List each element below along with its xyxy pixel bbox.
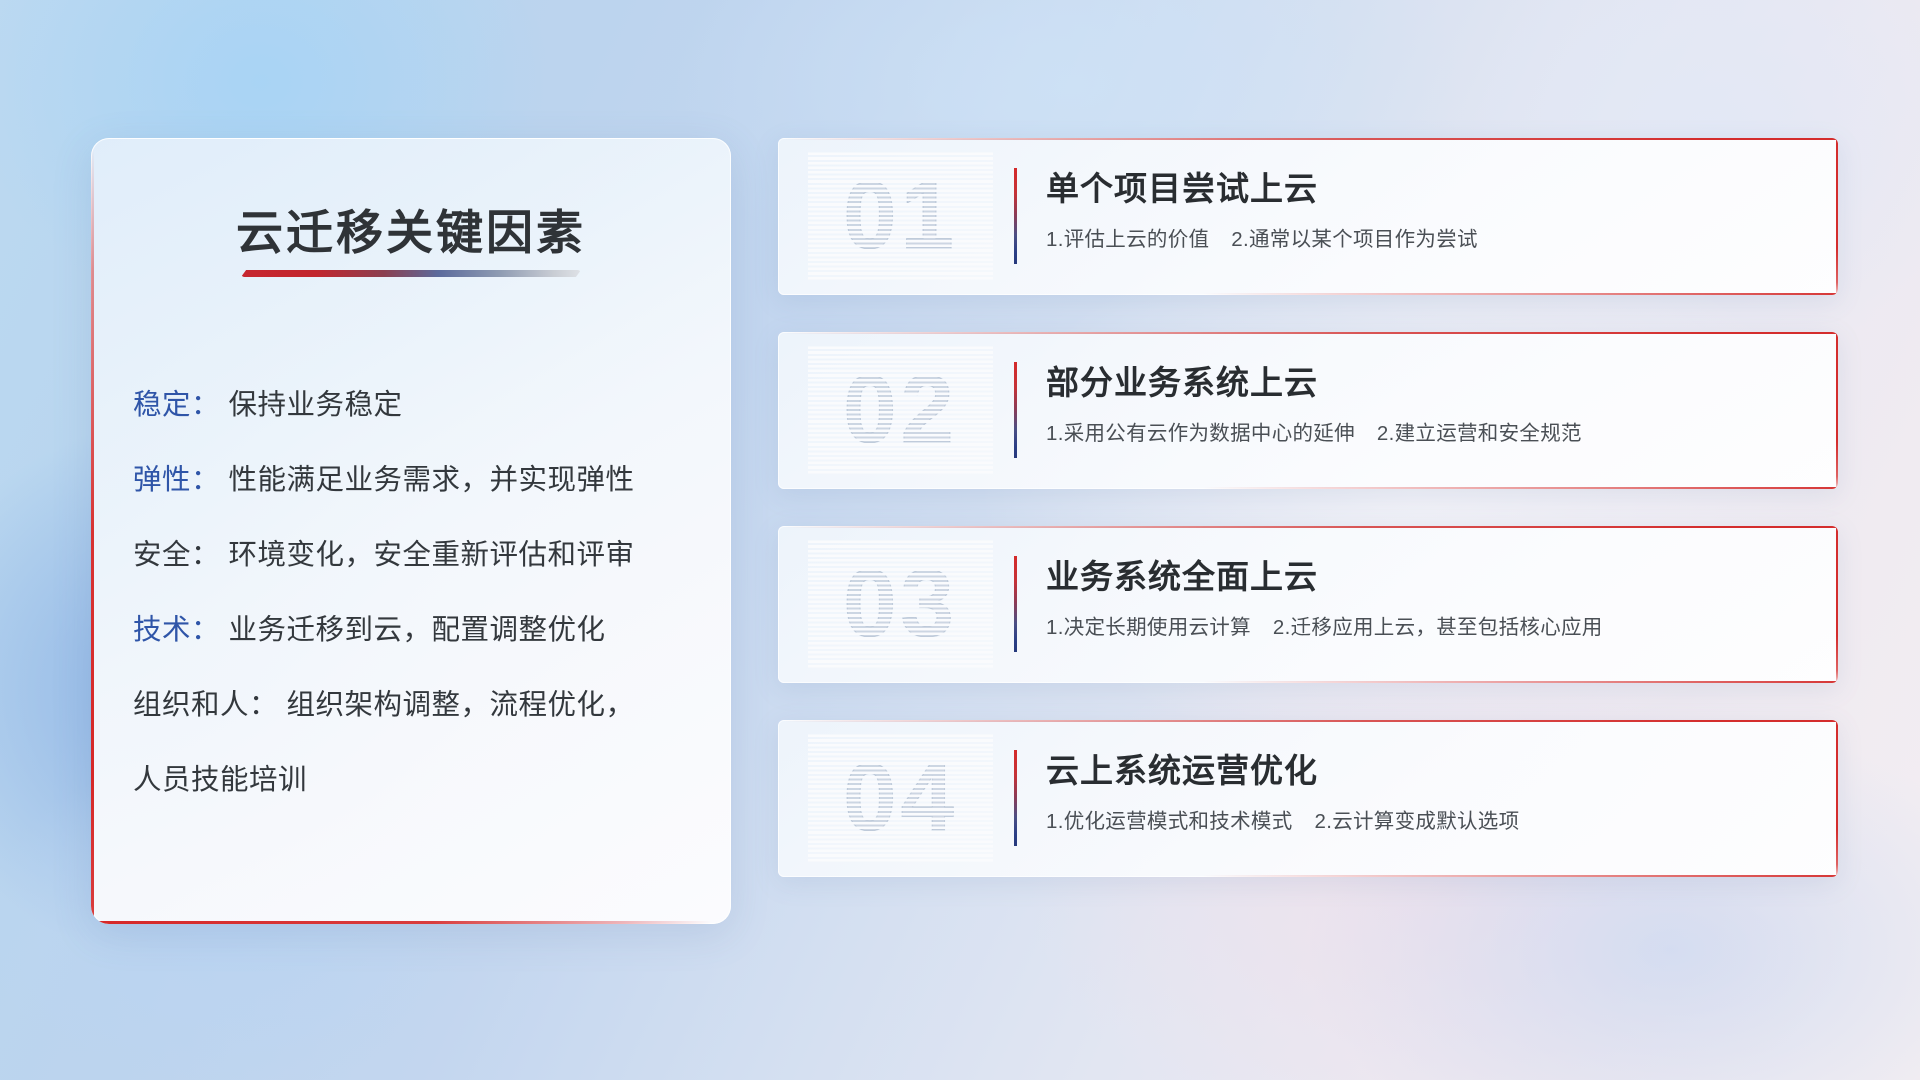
- card-subtitle: 1.评估上云的价值2.通常以某个项目作为尝试: [1046, 222, 1478, 252]
- card-title: 单个项目尝试上云: [1046, 162, 1318, 210]
- card-bottom-accent: [1202, 293, 1836, 295]
- card-top-accent: [784, 332, 1838, 334]
- card-subtitle-part-2: 2.通常以某个项目作为尝试: [1231, 228, 1478, 251]
- key-factor-line: 弹性： 性能满足业务需求，并实现弹性: [133, 443, 707, 518]
- key-factors-panel: 云迁移关键因素 稳定： 保持业务稳定弹性： 性能满足业务需求，并实现弹性安全： …: [91, 138, 731, 924]
- card-step-number: 04: [808, 734, 993, 862]
- card-step-number-text: 04: [843, 743, 958, 853]
- key-factor-label: 稳定：: [133, 389, 220, 421]
- card-divider-bar: [1014, 362, 1017, 458]
- panel-top-highlight: [109, 138, 713, 139]
- card-right-accent: [1836, 526, 1838, 683]
- card-step-number: 01: [808, 152, 993, 280]
- card-step-number-text: 02: [843, 355, 958, 465]
- key-factor-label: 组织和人：: [133, 689, 278, 721]
- key-factor-line: 人员技能培训: [133, 743, 707, 818]
- key-factor-text: 人员技能培训: [133, 764, 307, 796]
- key-factor-text: 保持业务稳定: [228, 389, 402, 421]
- key-factor-text: 业务迁移到云，配置调整优化: [228, 614, 605, 646]
- key-factor-line: 安全： 环境变化，安全重新评估和评审: [133, 518, 707, 593]
- card-subtitle-part-2: 2.建立运营和安全规范: [1377, 422, 1582, 445]
- card-step-number: 03: [808, 540, 993, 668]
- card-subtitle-part-1: 1.决定长期使用云计算: [1046, 616, 1251, 639]
- key-factor-text: 组织架构调整，流程优化，: [286, 689, 634, 721]
- card-top-accent: [784, 526, 1838, 528]
- card-subtitle: 1.采用公有云作为数据中心的延伸2.建立运营和安全规范: [1046, 416, 1582, 446]
- stage-card[interactable]: 03业务系统全面上云1.决定长期使用云计算2.迁移应用上云，甚至包括核心应用: [778, 526, 1838, 683]
- key-factor-line: 稳定： 保持业务稳定: [133, 368, 707, 443]
- card-left-highlight: [778, 530, 779, 679]
- card-subtitle: 1.优化运营模式和技术模式2.云计算变成默认选项: [1046, 804, 1519, 834]
- stage-card[interactable]: 02部分业务系统上云1.采用公有云作为数据中心的延伸2.建立运营和安全规范: [778, 332, 1838, 489]
- card-divider-bar: [1014, 168, 1017, 264]
- card-right-accent: [1836, 332, 1838, 489]
- card-right-accent: [1836, 720, 1838, 877]
- key-factor-text: 性能满足业务需求，并实现弹性: [228, 464, 634, 496]
- card-subtitle-part-1: 1.采用公有云作为数据中心的延伸: [1046, 422, 1355, 445]
- key-factor-label: 弹性：: [133, 464, 220, 496]
- card-left-highlight: [778, 142, 779, 291]
- key-factors-list: 稳定： 保持业务稳定弹性： 性能满足业务需求，并实现弹性安全： 环境变化，安全重…: [133, 368, 707, 818]
- slide-stage: 云迁移关键因素 稳定： 保持业务稳定弹性： 性能满足业务需求，并实现弹性安全： …: [0, 0, 1920, 1080]
- panel-left-accent-bar: [91, 148, 94, 916]
- card-bottom-accent: [1202, 681, 1836, 683]
- key-factor-line: 组织和人： 组织架构调整，流程优化，: [133, 668, 707, 743]
- page-title: 云迁移关键因素: [91, 194, 731, 263]
- key-factor-label: 安全：: [133, 539, 220, 571]
- card-title: 云上系统运营优化: [1046, 744, 1318, 792]
- card-title: 部分业务系统上云: [1046, 356, 1318, 404]
- card-left-highlight: [778, 724, 779, 873]
- stage-card[interactable]: 04云上系统运营优化1.优化运营模式和技术模式2.云计算变成默认选项: [778, 720, 1838, 877]
- card-bottom-accent: [1202, 487, 1836, 489]
- card-subtitle: 1.决定长期使用云计算2.迁移应用上云，甚至包括核心应用: [1046, 610, 1603, 640]
- key-factor-line: 技术： 业务迁移到云，配置调整优化: [133, 593, 707, 668]
- title-underline: [241, 270, 581, 277]
- card-title: 业务系统全面上云: [1046, 550, 1318, 598]
- card-bottom-accent: [1202, 875, 1836, 877]
- card-left-highlight: [778, 336, 779, 485]
- card-subtitle-part-2: 2.云计算变成默认选项: [1315, 810, 1520, 833]
- card-subtitle-part-1: 1.优化运营模式和技术模式: [1046, 810, 1293, 833]
- card-divider-bar: [1014, 556, 1017, 652]
- card-subtitle-part-2: 2.迁移应用上云，甚至包括核心应用: [1273, 616, 1603, 639]
- card-top-accent: [784, 720, 1838, 722]
- card-top-accent: [784, 138, 1838, 140]
- card-subtitle-part-1: 1.评估上云的价值: [1046, 228, 1209, 251]
- card-step-number-text: 01: [843, 161, 958, 271]
- key-factor-label: 技术：: [133, 614, 220, 646]
- card-step-number-text: 03: [843, 549, 958, 659]
- stage-card[interactable]: 01单个项目尝试上云1.评估上云的价值2.通常以某个项目作为尝试: [778, 138, 1838, 295]
- card-divider-bar: [1014, 750, 1017, 846]
- card-right-accent: [1836, 138, 1838, 295]
- panel-bottom-accent-bar: [93, 921, 711, 924]
- key-factor-text: 环境变化，安全重新评估和评审: [228, 539, 634, 571]
- card-step-number: 02: [808, 346, 993, 474]
